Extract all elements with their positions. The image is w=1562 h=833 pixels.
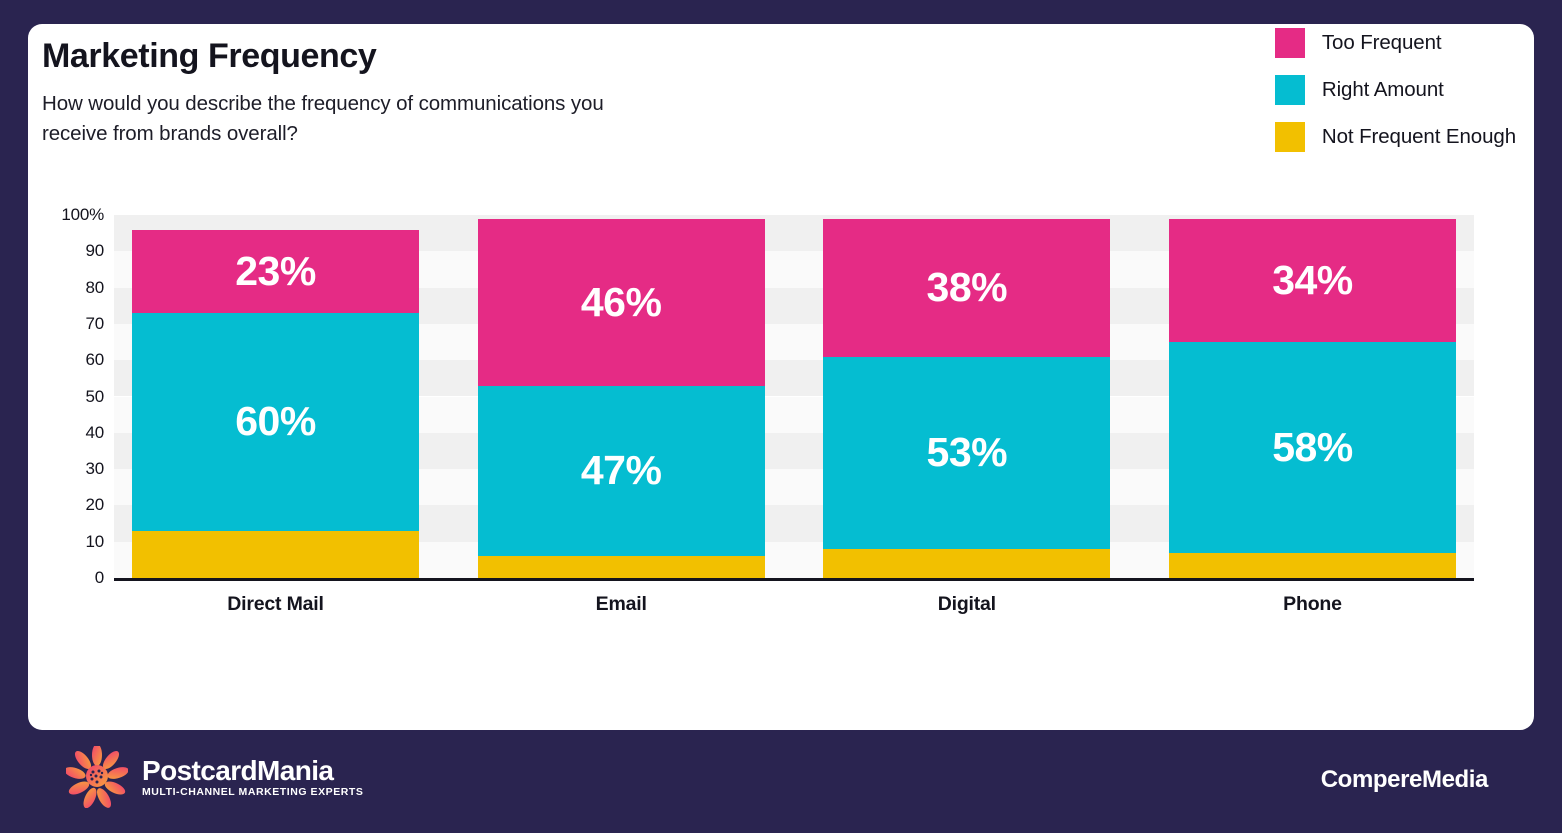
source-brand: CompereMedia bbox=[1321, 766, 1488, 794]
y-axis-tick-label: 20 bbox=[85, 495, 104, 515]
bar-segment: 60% bbox=[132, 313, 419, 531]
brand-name: PostcardMania bbox=[142, 757, 363, 785]
chart-legend: Too FrequentRight AmountNot Frequent Eno… bbox=[1275, 28, 1516, 152]
y-axis-tick-label: 90 bbox=[85, 241, 104, 261]
y-axis-tick-label: 30 bbox=[85, 459, 104, 479]
page-subtitle: How would you describe the frequency of … bbox=[42, 89, 642, 147]
bar-segment: 53% bbox=[823, 357, 1110, 549]
bar-column: 34%58% bbox=[1169, 215, 1456, 578]
y-axis-tick-label: 50 bbox=[85, 387, 104, 407]
y-axis-tick-label: 40 bbox=[85, 423, 104, 443]
bar-segment: 34% bbox=[1169, 219, 1456, 342]
legend-label: Right Amount bbox=[1322, 78, 1444, 102]
legend-swatch-icon bbox=[1275, 28, 1305, 58]
bar-value-label: 38% bbox=[927, 267, 1008, 308]
bar-segment: 58% bbox=[1169, 342, 1456, 553]
flower-burst-icon bbox=[66, 746, 128, 808]
postcardmania-logo: PostcardMania MULTI-CHANNEL MARKETING EX… bbox=[66, 746, 363, 808]
plot-area: 23%60%46%47%38%53%34%58% bbox=[114, 215, 1474, 578]
bar-column: 46%47% bbox=[478, 215, 765, 578]
y-axis-tick-label: 100% bbox=[61, 205, 104, 225]
footer: PostcardMania MULTI-CHANNEL MARKETING EX… bbox=[0, 730, 1562, 833]
bar-column: 38%53% bbox=[823, 215, 1110, 578]
x-axis-line bbox=[114, 578, 1474, 581]
legend-swatch-icon bbox=[1275, 75, 1305, 105]
legend-item: Not Frequent Enough bbox=[1275, 122, 1516, 152]
page-title: Marketing Frequency bbox=[42, 38, 842, 75]
x-axis-category-label: Email bbox=[478, 593, 765, 616]
x-axis-labels: Direct MailEmailDigitalPhone bbox=[114, 593, 1474, 616]
y-axis-tick-label: 0 bbox=[95, 568, 104, 588]
bar-value-label: 53% bbox=[927, 432, 1008, 473]
chart-area: 0102030405060708090100% 23%60%46%47%38%5… bbox=[42, 215, 1474, 655]
bar-column: 23%60% bbox=[132, 215, 419, 578]
y-axis-tick-label: 80 bbox=[85, 278, 104, 298]
bar-value-label: 34% bbox=[1272, 260, 1353, 301]
bar-value-label: 58% bbox=[1272, 427, 1353, 468]
y-axis-tick-label: 10 bbox=[85, 532, 104, 552]
bar-segment: 47% bbox=[478, 386, 765, 557]
bar-segment: 23% bbox=[132, 230, 419, 313]
bar-segment: 46% bbox=[478, 219, 765, 386]
legend-label: Not Frequent Enough bbox=[1322, 125, 1516, 149]
bar-segment: 38% bbox=[823, 219, 1110, 357]
y-axis-tick-label: 70 bbox=[85, 314, 104, 334]
legend-item: Too Frequent bbox=[1275, 28, 1516, 58]
x-axis-category-label: Digital bbox=[823, 593, 1110, 616]
bar-segment bbox=[823, 549, 1110, 578]
legend-swatch-icon bbox=[1275, 122, 1305, 152]
bar-value-label: 23% bbox=[235, 251, 316, 292]
chart-header: Marketing Frequency How would you descri… bbox=[42, 38, 842, 148]
bar-value-label: 60% bbox=[235, 401, 316, 442]
x-axis-category-label: Direct Mail bbox=[132, 593, 419, 616]
y-axis-tick-label: 60 bbox=[85, 350, 104, 370]
bar-value-label: 47% bbox=[581, 450, 662, 491]
y-axis: 0102030405060708090100% bbox=[42, 215, 104, 578]
legend-label: Too Frequent bbox=[1322, 31, 1442, 55]
x-axis-category-label: Phone bbox=[1169, 593, 1456, 616]
bar-group: 23%60%46%47%38%53%34%58% bbox=[114, 215, 1474, 578]
bar-segment bbox=[478, 556, 765, 578]
bar-value-label: 46% bbox=[581, 282, 662, 323]
legend-item: Right Amount bbox=[1275, 75, 1516, 105]
brand-tagline: MULTI-CHANNEL MARKETING EXPERTS bbox=[142, 787, 363, 798]
bar-segment bbox=[132, 531, 419, 578]
bar-segment bbox=[1169, 553, 1456, 578]
infographic-page: Marketing Frequency How would you descri… bbox=[0, 0, 1562, 833]
